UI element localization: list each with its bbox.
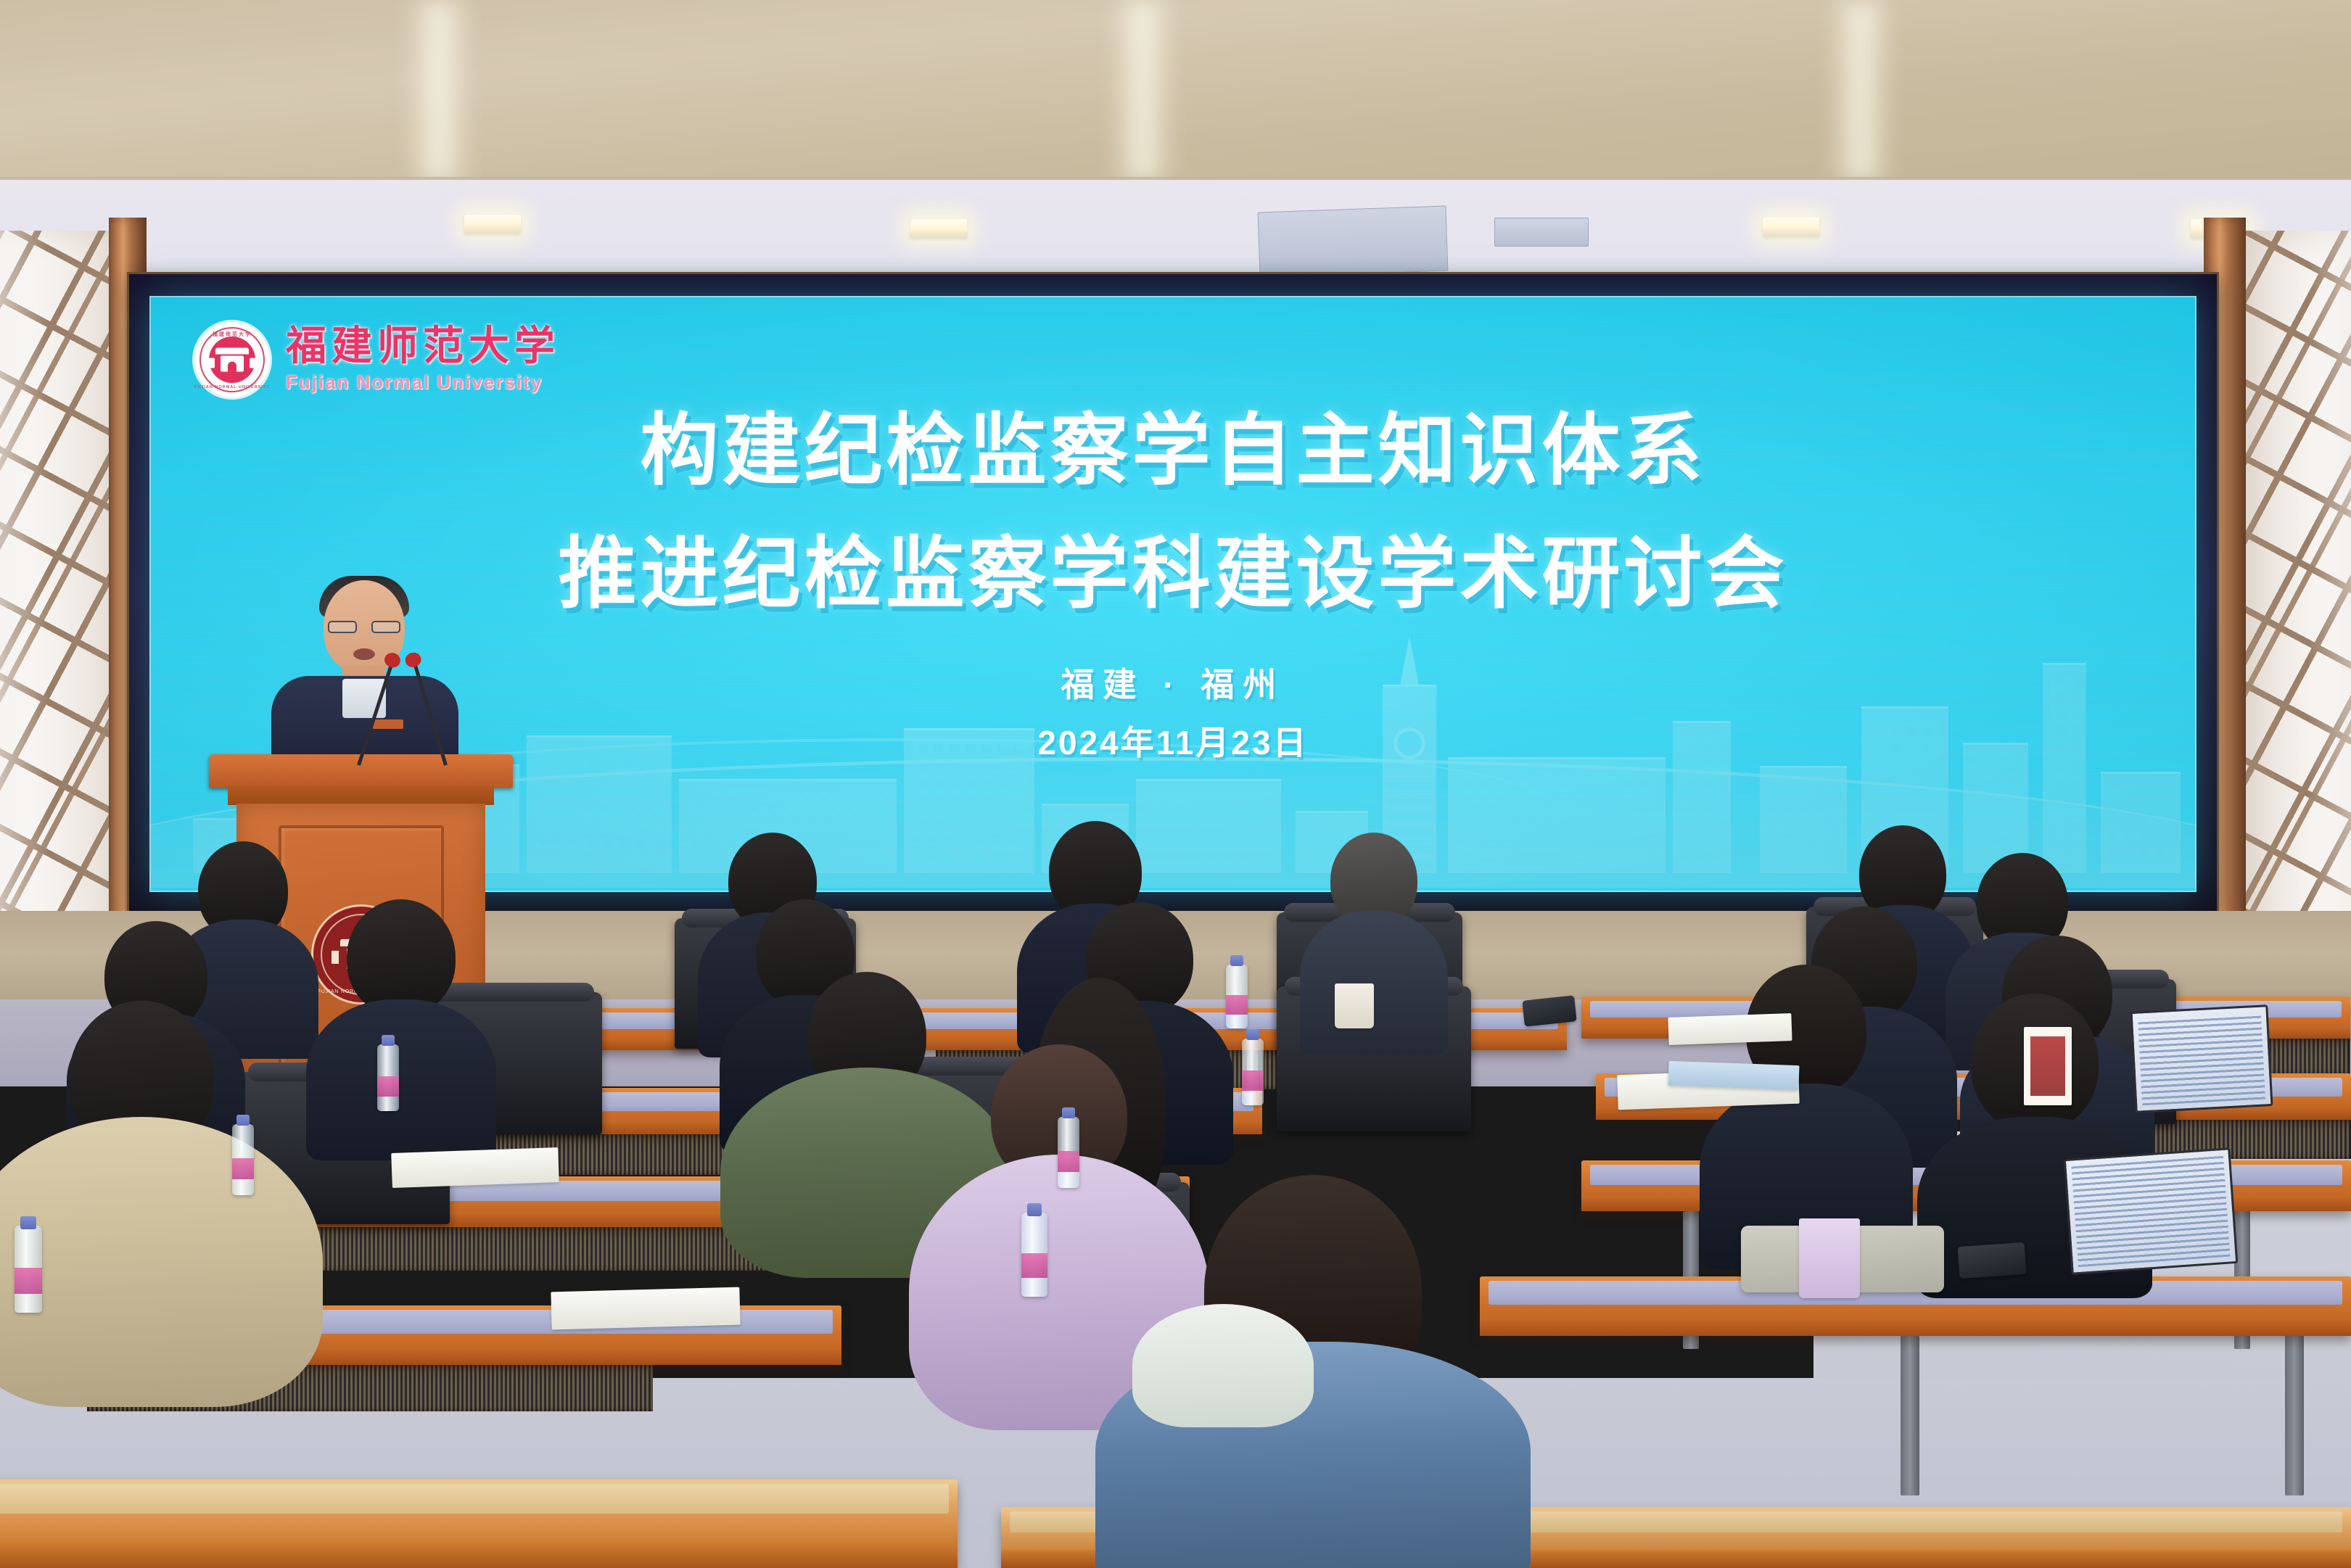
slide-title-line-1: 构建纪检监察学自主知识体系 (149, 405, 2196, 497)
laptop (2064, 1147, 2239, 1275)
laptop (2130, 1004, 2273, 1113)
recessed-downlight (1763, 218, 1819, 236)
podium-neck (228, 786, 494, 805)
desk-foreground-left (0, 1480, 958, 1568)
ceiling-upper-band (0, 0, 2351, 181)
audience-member-denim-jacket (1088, 1175, 1538, 1568)
conference-hall-photo: 福建师范大学 FUJIAN NORMAL UNIVERSITY 福建师范大学 F… (0, 0, 2351, 1568)
ceiling-access-panel (1494, 218, 1589, 247)
chinese-fretwork-lattice-panel-left (0, 231, 122, 956)
water-bottle (1242, 1039, 1264, 1105)
water-bottle (1021, 1213, 1047, 1297)
ceiling-access-panel (1258, 205, 1449, 277)
fujian-normal-university-seal-icon: 福建师范大学 FUJIAN NORMAL UNIVERSITY (194, 322, 270, 397)
papers-on-desk (391, 1147, 559, 1188)
water-bottle (232, 1124, 254, 1195)
smartphone (1522, 995, 1576, 1026)
seal-gate-glyph (215, 347, 249, 374)
water-bottle (15, 1226, 42, 1313)
university-logo-lockup: 福建师范大学 FUJIAN NORMAL UNIVERSITY 福建师范大学 F… (194, 322, 560, 397)
seal-ring-bottom-text: FUJIAN NORMAL UNIVERSITY (194, 385, 270, 389)
recessed-downlight (910, 219, 967, 238)
recessed-downlight (464, 215, 521, 234)
papers-on-desk (1668, 1013, 1792, 1045)
speaker-mouth (353, 648, 375, 660)
travel-mug (1799, 1218, 1860, 1298)
name-card (2024, 1027, 2072, 1105)
water-bottle (377, 1044, 399, 1111)
smartphone (1958, 1242, 2027, 1279)
papers-on-desk (1668, 1061, 1799, 1090)
eyeglasses-icon (328, 621, 400, 633)
university-name-en: Fujian Normal University (286, 371, 560, 394)
water-bottle (1058, 1117, 1079, 1188)
paper-cup (1335, 983, 1374, 1028)
speaker-badge (373, 719, 403, 729)
chinese-fretwork-lattice-panel-right (2243, 231, 2351, 963)
papers-on-desk (551, 1287, 740, 1330)
university-name-cn: 福建师范大学 (286, 326, 560, 367)
audience-member-center-rear-3 (1298, 833, 1449, 1055)
water-bottle (1226, 965, 1248, 1028)
desk-leg (1901, 1336, 1919, 1495)
audience-member-beige-jacket (0, 1001, 334, 1407)
desk-leg (2285, 1333, 2304, 1495)
